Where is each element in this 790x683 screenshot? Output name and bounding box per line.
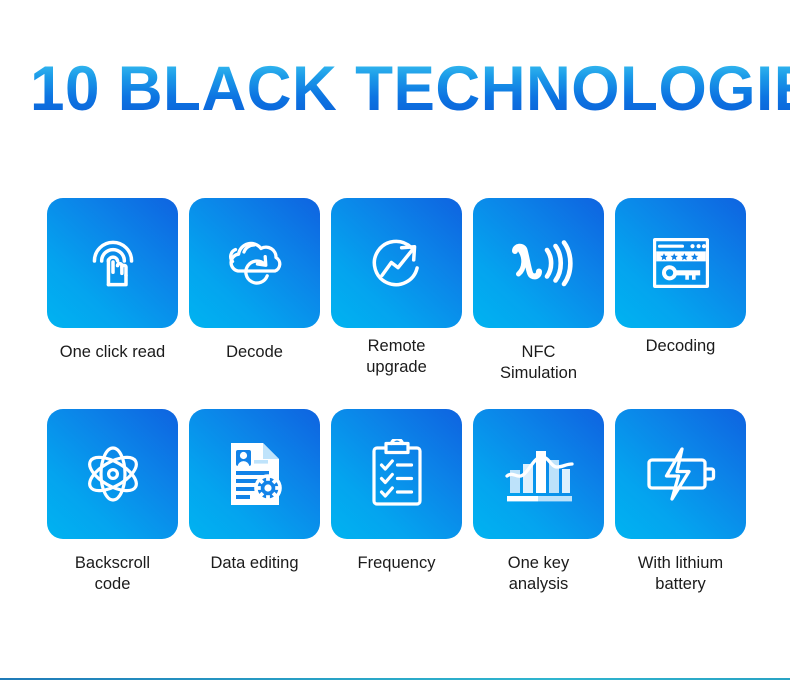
feature-cell-decode[interactable]: Decode	[189, 198, 320, 384]
feature-cell-lithium-battery[interactable]: With lithium battery	[615, 409, 746, 595]
clipboard-check-icon	[368, 439, 426, 509]
infographic-page: 10 BLACK TECHNOLOGIES	[0, 0, 790, 683]
nfc-wave-icon	[503, 233, 575, 293]
feature-label: One key analysis	[473, 553, 604, 595]
feature-tile[interactable]	[47, 409, 178, 539]
feature-cell-frequency[interactable]: Frequency	[331, 409, 462, 595]
feature-cell-decoding[interactable]: Decoding	[615, 198, 746, 384]
feature-tile[interactable]	[189, 409, 320, 539]
feature-tile[interactable]	[473, 409, 604, 539]
feature-cell-backscroll-code[interactable]: Backscroll code	[47, 409, 178, 595]
feature-cell-nfc-simulation[interactable]: NFC Simulation	[473, 198, 604, 384]
feature-label: One click read	[47, 342, 178, 363]
feature-cell-one-click-read[interactable]: One click read	[47, 198, 178, 384]
feature-label: Decode	[189, 342, 320, 363]
feature-tile[interactable]	[331, 409, 462, 539]
feature-tile[interactable]	[473, 198, 604, 328]
feature-label: Decoding	[615, 336, 746, 357]
feature-cell-data-editing[interactable]: Data editing	[189, 409, 320, 595]
cloud-refresh-icon	[220, 230, 290, 296]
trend-upgrade-icon	[364, 230, 430, 296]
feature-label: With lithium battery	[615, 553, 746, 595]
feature-cell-one-key-analysis[interactable]: One key analysis	[473, 409, 604, 595]
atom-orbit-icon	[77, 438, 149, 510]
battery-bolt-icon	[644, 443, 718, 505]
feature-cell-remote-upgrade[interactable]: Remote upgrade	[331, 198, 462, 384]
feature-label: Backscroll code	[47, 553, 178, 595]
password-key-icon	[651, 232, 711, 294]
bottom-divider	[0, 678, 790, 680]
page-title: 10 BLACK TECHNOLOGIES	[30, 58, 790, 121]
feature-tile[interactable]	[331, 198, 462, 328]
feature-label: NFC Simulation	[473, 342, 604, 384]
touch-read-icon	[80, 230, 146, 296]
feature-tile[interactable]	[47, 198, 178, 328]
feature-tile[interactable]	[189, 198, 320, 328]
feature-label: Frequency	[331, 553, 462, 574]
feature-grid: One click read Decode	[47, 198, 743, 595]
feature-tile[interactable]	[615, 198, 746, 328]
feature-label: Data editing	[189, 553, 320, 574]
bar-chart-line-icon	[504, 443, 574, 505]
document-gear-icon	[223, 440, 287, 508]
feature-tile[interactable]	[615, 409, 746, 539]
feature-label: Remote upgrade	[331, 336, 462, 378]
